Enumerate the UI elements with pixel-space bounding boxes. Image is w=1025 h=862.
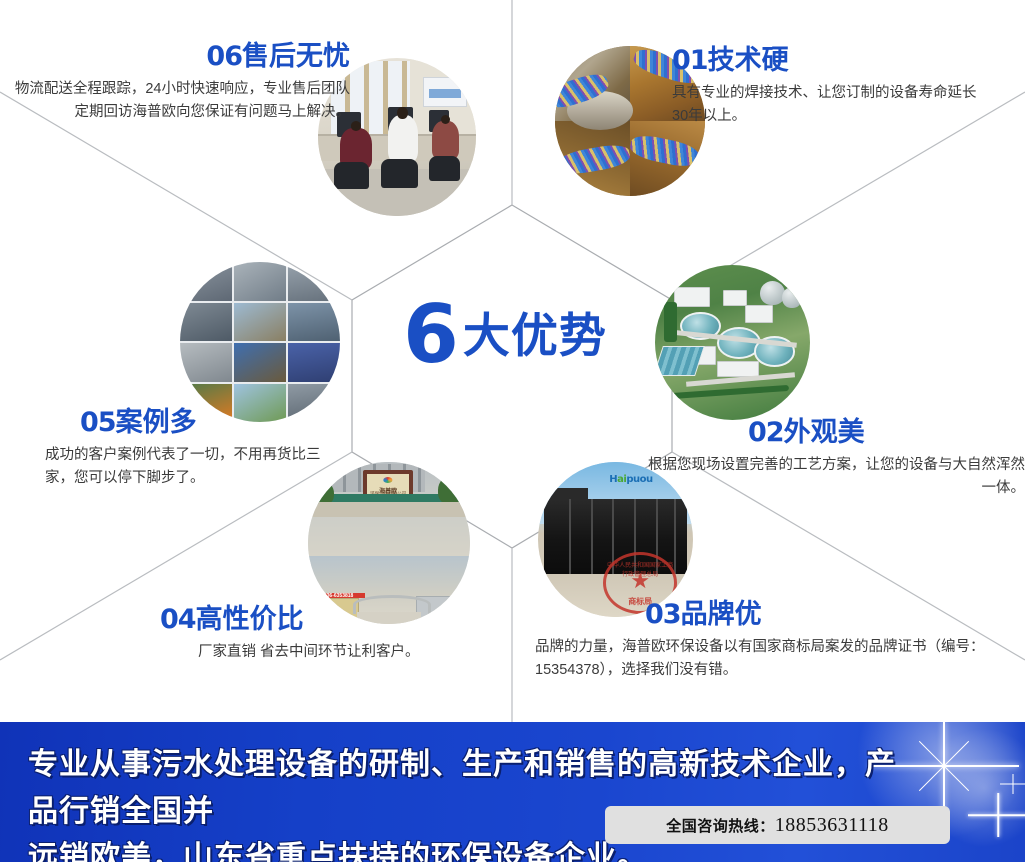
- hotline-box[interactable]: 全国咨询热线： 18853631118: [605, 806, 950, 844]
- feature-05-desc: 成功的客户案例代表了一切，不用再货比三家，您可以停下脚步了。: [45, 444, 345, 491]
- feature-04-title: 04高性价比: [160, 605, 490, 635]
- feature-05-label: 案例多: [116, 407, 197, 437]
- feature-01-title: 01技术硬: [672, 46, 992, 76]
- center-number: 6: [403, 295, 457, 375]
- feature-01: 01技术硬 具有专业的焊接技术、让您订制的设备寿命延长30年以上。: [672, 46, 992, 129]
- photo-circle-03: Haipuou 中华人民共和国国家工商行政管理总局 ★ 商标局: [538, 462, 693, 617]
- feature-06-title: 06售后无忧: [10, 42, 350, 72]
- feature-06-desc: 物流配送全程跟踪，24小时快速响应，专业售后团队定期回访海普欧向您保证有问题马上…: [10, 78, 350, 125]
- haipuou-logo-icon: Haipuou: [609, 474, 652, 485]
- feature-03-number: 03: [645, 599, 681, 630]
- feature-05: 05案例多 成功的客户案例代表了一切，不用再货比三家，您可以停下脚步了。: [45, 408, 345, 491]
- feature-04-desc: 厂家直销 省去中间环节让利客户。: [198, 641, 490, 664]
- center-title: 6 大优势: [380, 290, 630, 380]
- aerial-wastewater-plant-photo: [655, 265, 810, 420]
- photo-circle-05: [180, 262, 340, 422]
- feature-03-label: 品牌优: [681, 599, 762, 629]
- photo-circle-02: [655, 265, 810, 420]
- feature-02: 02外观美 根据您现场设置完善的工艺方案，让您的设备与大自然浑然一体。: [640, 418, 1025, 501]
- feature-03-desc: 品牌的力量，海普欧环保设备以有国家商标局案发的品牌证书（编号：15354378）…: [535, 636, 1025, 683]
- infographic-root: 6 大优势 06售后无忧 物流配送全程跟踪，24小时快速响应，专业售后团队定期回…: [0, 0, 1025, 862]
- black-treatment-tanks-photo: Haipuou 中华人民共和国国家工商行政管理总局 ★ 商标局: [538, 462, 693, 617]
- hotline-label: 全国咨询热线：: [666, 815, 775, 836]
- feature-01-desc: 具有专业的焊接技术、让您订制的设备寿命延长30年以上。: [672, 82, 992, 129]
- feature-04-number: 04: [160, 604, 196, 635]
- feature-04-label: 高性价比: [196, 604, 304, 634]
- case-collage-photo: [180, 262, 340, 422]
- feature-03-title: 03品牌优: [645, 600, 1025, 630]
- feature-02-title: 02外观美: [748, 418, 1025, 448]
- feature-01-label: 技术硬: [708, 45, 789, 75]
- feature-02-number: 02: [748, 417, 784, 448]
- feature-03: 03品牌优 品牌的力量，海普欧环保设备以有国家商标局案发的品牌证书（编号：153…: [535, 600, 1025, 683]
- feature-06: 06售后无忧 物流配送全程跟踪，24小时快速响应，专业售后团队定期回访海普欧向您…: [10, 42, 350, 125]
- feature-06-label: 售后无忧: [242, 41, 350, 71]
- feature-01-number: 01: [672, 45, 708, 76]
- feature-02-label: 外观美: [784, 417, 865, 447]
- feature-06-number: 06: [206, 41, 242, 72]
- feature-02-desc: 根据您现场设置完善的工艺方案，让您的设备与大自然浑然一体。: [640, 454, 1025, 501]
- feature-04: 04高性价比 厂家直销 省去中间环节让利客户。: [160, 605, 490, 664]
- feature-05-number: 05: [80, 407, 116, 438]
- banner-text: 专业从事污水处理设备的研制、生产和销售的高新技术企业，产品行销全国并 远销欧美，…: [28, 742, 908, 862]
- feature-05-title: 05案例多: [80, 408, 345, 438]
- center-label: 大优势: [463, 312, 607, 359]
- hotline-number: 18853631118: [775, 814, 889, 837]
